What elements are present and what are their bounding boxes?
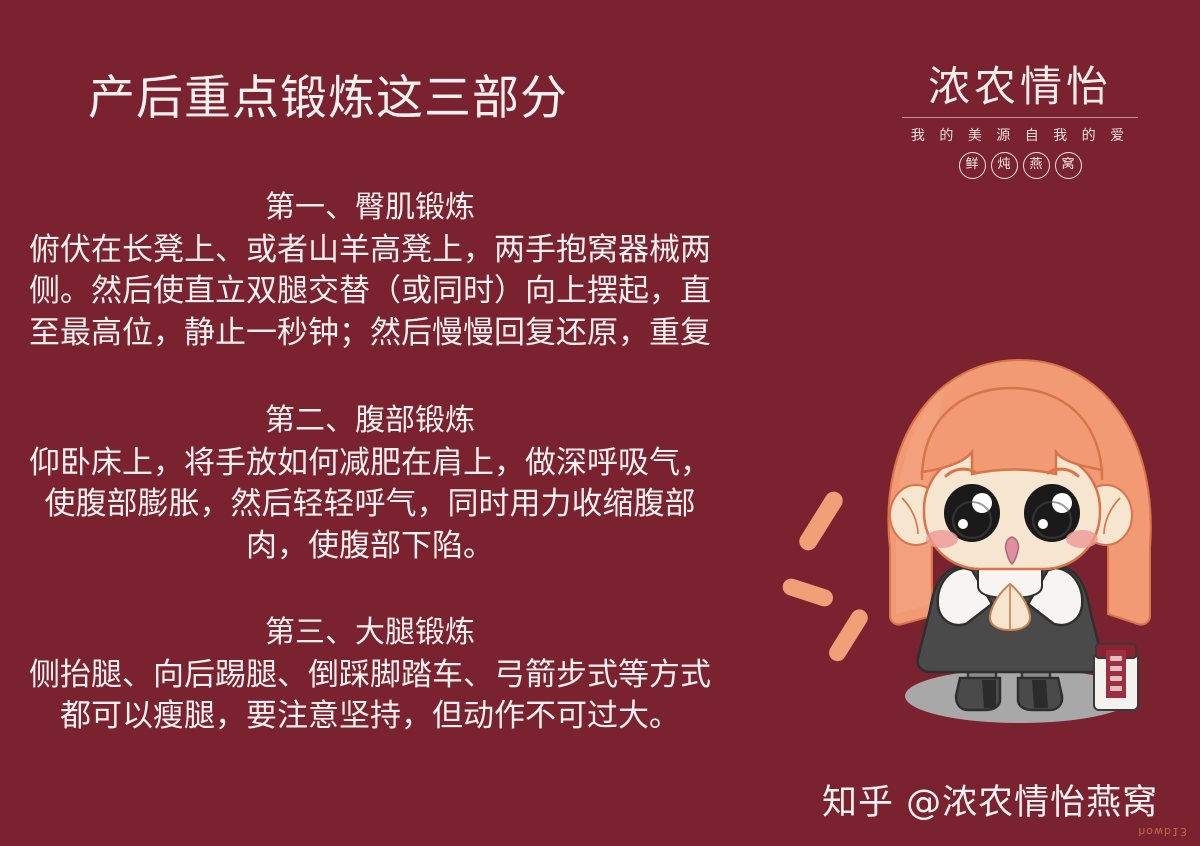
section-2-body: 仰卧床上，将手放如何减肥在肩上，做深呼吸气，使腹部膨胀，然后轻轻呼气，同时用力收… (0, 443, 740, 568)
brand-badge-group: 鲜 炖 燕 窝 (898, 152, 1142, 179)
badge-char-3: 燕 (1023, 152, 1050, 179)
content-section-2: 第二、腹部锻炼 仰卧床上，将手放如何减肥在肩上，做深呼吸气，使腹部膨胀，然后轻轻… (0, 402, 740, 567)
decorative-dash-group (780, 488, 871, 664)
section-3-heading: 第三、大腿锻炼 (0, 614, 740, 652)
badge-char-2: 炖 (991, 152, 1018, 179)
content-section-3: 第三、大腿锻炼 侧抬腿、向后踢腿、倒踩脚踏车、弓箭步式等方式都可以瘦腿，要注意坚… (0, 614, 740, 738)
corner-watermark: howb13 (1138, 825, 1188, 838)
brand-name: 浓农情怡 (898, 66, 1142, 108)
badge-char-4: 窝 (1055, 152, 1082, 179)
section-2-heading: 第二、腹部锻炼 (0, 402, 740, 440)
badge-char-1: 鲜 (959, 152, 986, 179)
section-1-body: 俯伏在长凳上、或者山羊高凳上，两手抱窝器械两侧。然后使直立双腿交替（或同时）向上… (0, 230, 740, 355)
brand-divider (902, 117, 1138, 118)
brand-logo: 浓农情怡 我 的 美 源 自 我 的 爱 鲜 炖 燕 窝 (898, 66, 1142, 179)
zhihu-watermark: 知乎 @浓农情怡燕窝 (822, 774, 1158, 825)
content-section-1: 第一、臀肌锻炼 俯伏在长凳上、或者山羊高凳上，两手抱窝器械两侧。然后使直立双腿交… (0, 189, 740, 354)
birdnest-jar (1094, 644, 1138, 710)
section-1-heading: 第一、臀肌锻炼 (0, 189, 740, 227)
blush-right (1066, 530, 1098, 548)
blush-left (926, 530, 958, 548)
poster-canvas: 产后重点锻炼这三部分 浓农情怡 我 的 美 源 自 我 的 爱 鲜 炖 燕 窝 … (0, 0, 1200, 846)
section-3-body: 侧抬腿、向后踢腿、倒踩脚踏车、弓箭步式等方式都可以瘦腿，要注意坚持，但动作不可过… (0, 655, 740, 738)
chibi-girl-illustration (760, 348, 1200, 778)
page-title: 产后重点锻炼这三部分 (88, 72, 568, 126)
brand-tagline: 我 的 美 源 自 我 的 爱 (898, 125, 1142, 145)
